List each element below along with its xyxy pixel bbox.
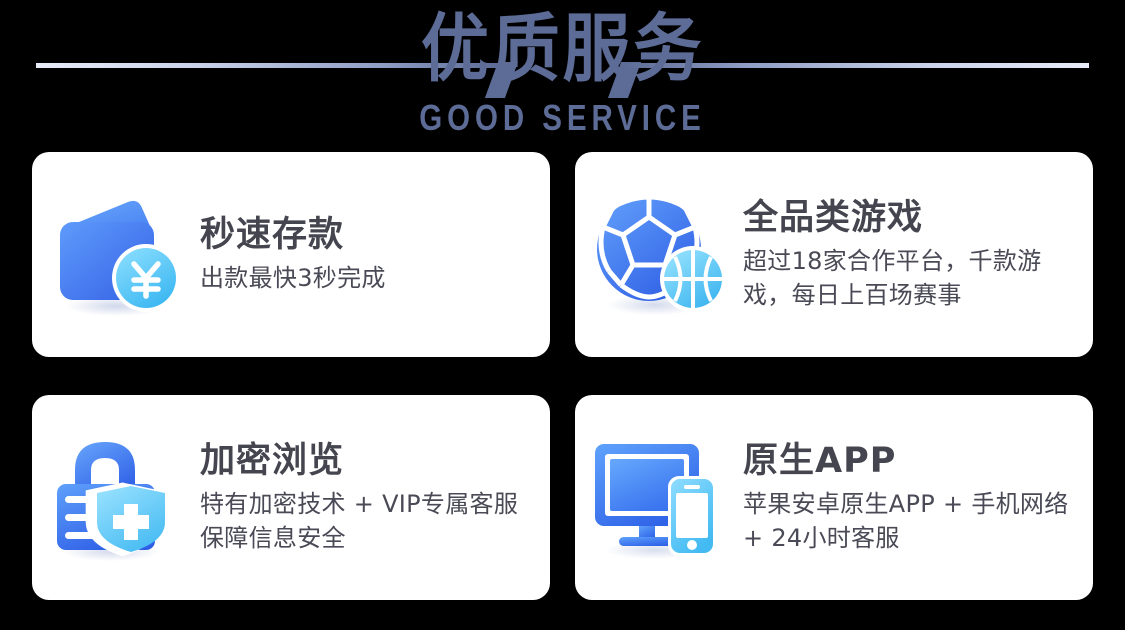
card-title: 加密浏览 [200, 441, 536, 481]
soccer-basketball-icon [575, 185, 743, 325]
card-text-block: 全品类游戏 超过18家合作平台，千款游戏，每日上百场赛事 [743, 198, 1093, 312]
card-text-block: 秒速存款 出款最快3秒完成 [200, 215, 550, 295]
promo-banner: 优质服务 GOOD SERVICE [0, 0, 1125, 630]
page-title: 优质服务 [45, 6, 1080, 92]
card-title: 全品类游戏 [743, 198, 1079, 238]
lock-shield-icon [32, 428, 200, 568]
feature-card-games[interactable]: 全品类游戏 超过18家合作平台，千款游戏，每日上百场赛事 [575, 152, 1093, 357]
card-text-block: 加密浏览 特有加密技术 + VIP专属客服保障信息安全 [200, 441, 550, 555]
card-title: 秒速存款 [200, 215, 536, 255]
feature-card-deposit[interactable]: 秒速存款 出款最快3秒完成 [32, 152, 550, 357]
section-header: 优质服务 GOOD SERVICE [0, 0, 1125, 148]
card-text-block: 原生APP 苹果安卓原生APP + 手机网络 + 24小时客服 [743, 441, 1093, 555]
feature-card-encryption[interactable]: 加密浏览 特有加密技术 + VIP专属客服保障信息安全 [32, 395, 550, 600]
card-subtitle: 苹果安卓原生APP + 手机网络 + 24小时客服 [743, 487, 1075, 555]
card-subtitle: 特有加密技术 + VIP专属客服保障信息安全 [200, 487, 532, 555]
wallet-yen-icon [32, 185, 200, 325]
feature-card-grid: 秒速存款 出款最快3秒完成 [32, 152, 1093, 590]
monitor-phone-icon [575, 428, 743, 568]
page-subtitle: GOOD SERVICE [101, 98, 1024, 138]
card-subtitle: 超过18家合作平台，千款游戏，每日上百场赛事 [743, 244, 1075, 312]
card-subtitle: 出款最快3秒完成 [200, 261, 536, 295]
feature-card-native-app[interactable]: 原生APP 苹果安卓原生APP + 手机网络 + 24小时客服 [575, 395, 1093, 600]
card-title: 原生APP [743, 441, 1079, 481]
